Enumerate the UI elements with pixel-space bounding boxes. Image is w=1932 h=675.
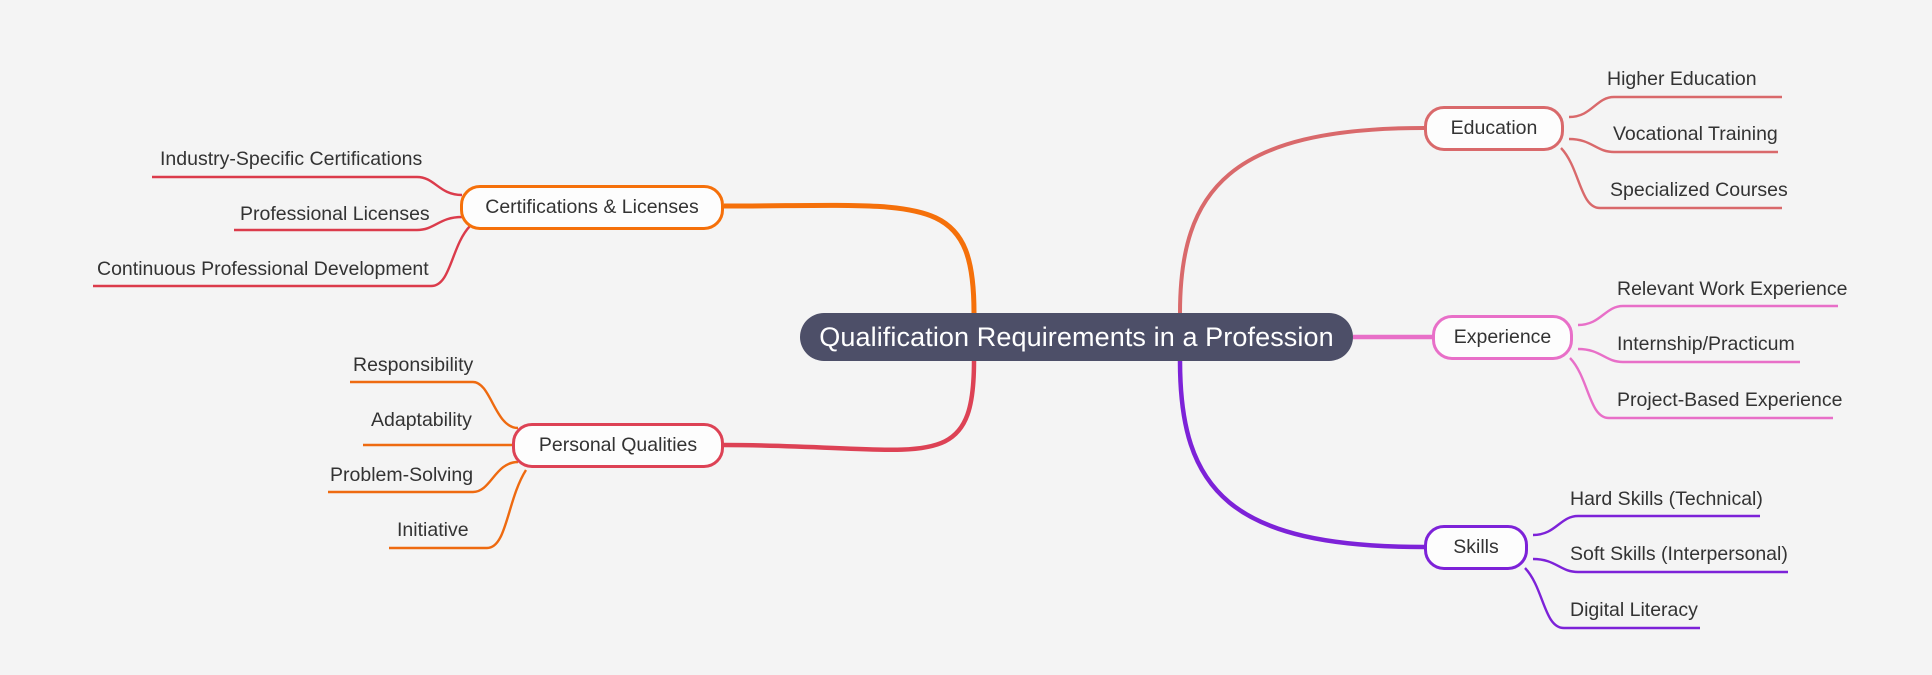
leaf-label-initiative[interactable]: Initiative — [397, 521, 469, 541]
leaf-text: Adaptability — [371, 409, 472, 431]
leaf-label-internship-practicum[interactable]: Internship/Practicum — [1617, 335, 1795, 355]
leaf-label-vocational-training[interactable]: Vocational Training — [1613, 125, 1778, 145]
leaf-label-industry-specific-certifications[interactable]: Industry-Specific Certifications — [160, 150, 422, 170]
leaf-label-problem-solving[interactable]: Problem-Solving — [330, 466, 473, 486]
branch-node-certifications-label: Certifications & Licenses — [485, 196, 699, 219]
leaf-label-specialized-courses[interactable]: Specialized Courses — [1610, 181, 1788, 201]
leaf-text: Continuous Professional Development — [97, 258, 429, 280]
branch-node-experience-label: Experience — [1454, 326, 1552, 349]
leaf-label-digital-literacy[interactable]: Digital Literacy — [1570, 601, 1698, 621]
branch-node-education[interactable]: Education — [1424, 106, 1564, 151]
leaf-text: Project-Based Experience — [1617, 389, 1842, 411]
leaf-text: Digital Literacy — [1570, 599, 1698, 621]
leaf-text: Soft Skills (Interpersonal) — [1570, 543, 1788, 565]
branch-node-skills[interactable]: Skills — [1424, 525, 1528, 570]
link-root-skills — [1180, 361, 1424, 547]
link-skills-hard-skills — [1533, 516, 1760, 535]
link-root-education — [1180, 128, 1424, 313]
link-root-certifications — [724, 205, 974, 313]
link-root-personal-qualities — [724, 361, 974, 450]
link-experience-relevant-work-experience — [1578, 306, 1838, 325]
leaf-text: Higher Education — [1607, 68, 1757, 90]
branch-node-education-label: Education — [1451, 117, 1538, 140]
leaf-label-responsibility[interactable]: Responsibility — [353, 356, 473, 376]
branch-node-certifications[interactable]: Certifications & Licenses — [460, 185, 724, 230]
leaf-text: Specialized Courses — [1610, 179, 1788, 201]
leaf-text: Relevant Work Experience — [1617, 278, 1848, 300]
leaf-label-higher-education[interactable]: Higher Education — [1607, 70, 1757, 90]
leaf-text: Responsibility — [353, 354, 473, 376]
link-education-higher-education — [1569, 97, 1782, 117]
leaf-text: Industry-Specific Certifications — [160, 148, 422, 170]
leaf-text: Initiative — [397, 519, 469, 541]
branch-node-personal-qualities-label: Personal Qualities — [539, 434, 697, 457]
leaf-text: Professional Licenses — [240, 203, 430, 225]
branch-node-skills-label: Skills — [1453, 536, 1499, 559]
mindmap-canvas: Qualification Requirements in a Professi… — [0, 0, 1932, 675]
branch-node-personal-qualities[interactable]: Personal Qualities — [512, 423, 724, 468]
root-node-label: Qualification Requirements in a Professi… — [819, 322, 1333, 353]
leaf-label-hard-skills[interactable]: Hard Skills (Technical) — [1570, 490, 1763, 510]
leaf-text: Problem-Solving — [330, 464, 473, 486]
leaf-text: Hard Skills (Technical) — [1570, 488, 1763, 510]
leaf-label-continuous-professional-development[interactable]: Continuous Professional Development — [97, 260, 429, 280]
root-node[interactable]: Qualification Requirements in a Professi… — [800, 313, 1353, 361]
leaf-label-adaptability[interactable]: Adaptability — [371, 411, 472, 431]
leaf-label-project-based-experience[interactable]: Project-Based Experience — [1617, 391, 1842, 411]
leaf-label-professional-licenses[interactable]: Professional Licenses — [240, 205, 430, 225]
link-certifications-industry-specific — [152, 177, 462, 195]
leaf-text: Internship/Practicum — [1617, 333, 1795, 355]
leaf-text: Vocational Training — [1613, 123, 1778, 145]
leaf-label-relevant-work-experience[interactable]: Relevant Work Experience — [1617, 280, 1848, 300]
branch-node-experience[interactable]: Experience — [1432, 315, 1573, 360]
leaf-label-soft-skills[interactable]: Soft Skills (Interpersonal) — [1570, 545, 1788, 565]
